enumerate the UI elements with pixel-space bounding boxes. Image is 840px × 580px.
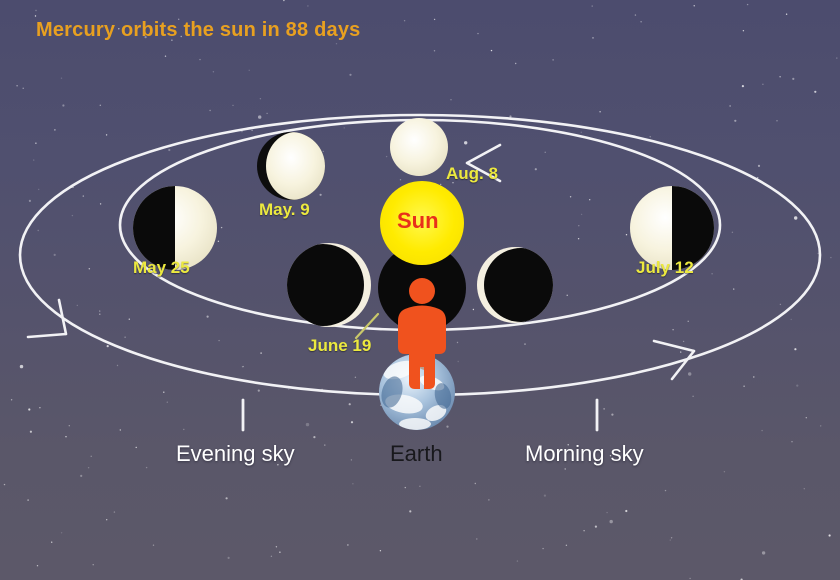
earth-and-observer-layer (0, 0, 840, 580)
label-july-12: July 12 (636, 258, 694, 278)
label-earth: Earth (390, 441, 443, 467)
label-june-19: June 19 (308, 336, 371, 356)
label-aug-8: Aug. 8 (446, 164, 498, 184)
label-may-25: May 25 (133, 258, 190, 278)
label-may-9: May. 9 (259, 200, 310, 220)
page-title: Mercury orbits the sun in 88 days (36, 19, 360, 42)
mercury-orbit-diagram: Sun (0, 0, 840, 580)
label-morning-sky: Morning sky (525, 441, 644, 467)
label-evening-sky: Evening sky (176, 441, 295, 467)
